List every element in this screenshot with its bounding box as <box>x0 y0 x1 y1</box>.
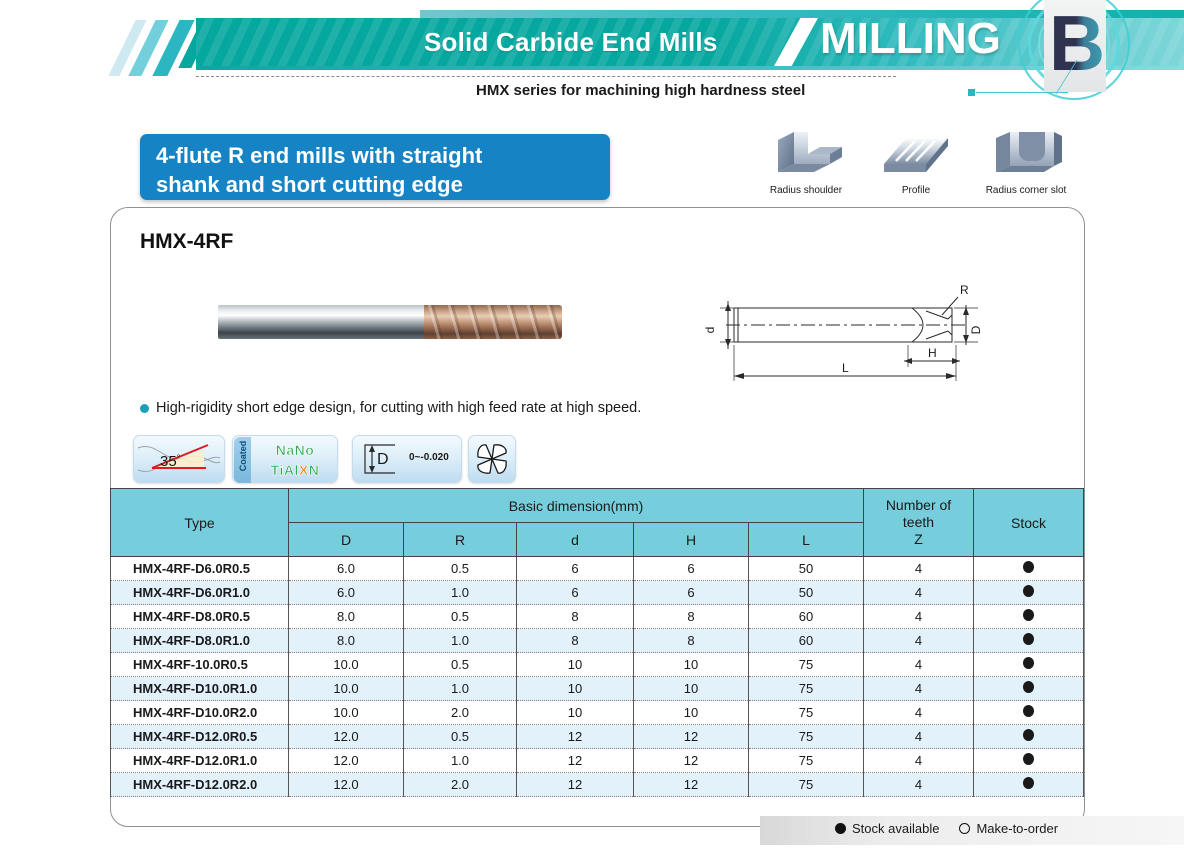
cell-teeth: 4 <box>864 557 974 581</box>
product-code: HMX-4RF <box>140 230 233 254</box>
spec-diameter-tolerance: D 0~-0.020 <box>352 435 462 483</box>
cell-L: 75 <box>749 725 864 749</box>
technical-drawing: d D R H L <box>690 275 990 390</box>
stock-legend: Stock availableMake-to-order <box>835 821 1058 836</box>
stock-available-icon <box>1023 729 1034 741</box>
cell-teeth: 4 <box>864 749 974 773</box>
spec-helix-angle: 35° <box>133 435 225 483</box>
application-icons: Radius shoulder Profile <box>745 130 1085 202</box>
cell-R: 0.5 <box>404 653 517 677</box>
tolerance-value: 0~-0.020 <box>409 452 449 463</box>
product-headline-line2: shank and short cutting edge <box>156 170 610 199</box>
table-row: HMX-4RF-D6.0R0.56.00.566504 <box>111 557 1084 581</box>
cell-stock <box>974 653 1084 677</box>
tool-photo <box>218 303 562 341</box>
radius-corner-slot-icon <box>988 130 1064 178</box>
table-row: HMX-4RF-D12.0R0.512.00.51212754 <box>111 725 1084 749</box>
dim-label-L: L <box>842 361 849 375</box>
cell-d: 10 <box>517 677 634 701</box>
cell-type: HMX-4RF-D12.0R1.0 <box>111 749 289 773</box>
cell-H: 10 <box>634 653 749 677</box>
cell-D: 6.0 <box>289 557 404 581</box>
cell-D: 8.0 <box>289 629 404 653</box>
product-headline-line1: 4-flute R end mills with straight <box>156 141 610 170</box>
helix-angle-value: 35 <box>160 453 177 470</box>
cell-d: 6 <box>517 581 634 605</box>
application-radius-shoulder: Radius shoulder <box>751 130 861 196</box>
tolerance-symbol: D <box>377 451 389 468</box>
subtitle-marker <box>968 89 975 96</box>
cell-stock <box>974 677 1084 701</box>
cell-teeth: 4 <box>864 773 974 797</box>
cell-H: 8 <box>634 605 749 629</box>
cell-type: HMX-4RF-D8.0R0.5 <box>111 605 289 629</box>
cell-R: 0.5 <box>404 557 517 581</box>
cell-H: 6 <box>634 557 749 581</box>
cell-L: 50 <box>749 581 864 605</box>
cell-d: 12 <box>517 773 634 797</box>
col-header-teeth: Number of teeth Z <box>864 489 974 557</box>
cell-L: 75 <box>749 677 864 701</box>
spec-coating: Coated NaNo TiAlXN <box>232 435 338 483</box>
application-profile: Profile <box>861 130 971 196</box>
cell-teeth: 4 <box>864 629 974 653</box>
stock-available-icon <box>1023 657 1034 669</box>
cell-R: 0.5 <box>404 605 517 629</box>
dim-label-d: d <box>703 327 717 334</box>
col-header-R: R <box>404 523 517 557</box>
table-header: Type Basic dimension(mm) Number of teeth… <box>111 489 1084 557</box>
cell-R: 2.0 <box>404 701 517 725</box>
stock-available-icon <box>1023 561 1034 573</box>
dim-label-R: R <box>960 283 969 297</box>
table-row: HMX-4RF-D10.0R2.010.02.01010754 <box>111 701 1084 725</box>
cell-d: 6 <box>517 557 634 581</box>
dim-label-D: D <box>969 325 983 334</box>
cell-D: 12.0 <box>289 749 404 773</box>
col-header-d: d <box>517 523 634 557</box>
cell-H: 12 <box>634 773 749 797</box>
cell-teeth: 4 <box>864 581 974 605</box>
table-row: HMX-4RF-D12.0R1.012.01.01212754 <box>111 749 1084 773</box>
coating-line-2: TiAlXN <box>253 460 337 480</box>
application-label: Radius corner slot <box>971 185 1081 196</box>
cell-D: 10.0 <box>289 701 404 725</box>
cell-R: 1.0 <box>404 629 517 653</box>
col-header-type: Type <box>111 489 289 557</box>
cell-R: 0.5 <box>404 725 517 749</box>
cell-teeth: 4 <box>864 677 974 701</box>
cell-type: HMX-4RF-D8.0R1.0 <box>111 629 289 653</box>
col-header-stock: Stock <box>974 489 1084 557</box>
cell-type: HMX-4RF-D10.0R1.0 <box>111 677 289 701</box>
cell-stock <box>974 701 1084 725</box>
stock-available-icon <box>1023 633 1034 645</box>
cell-L: 75 <box>749 749 864 773</box>
cell-type: HMX-4RF-10.0R0.5 <box>111 653 289 677</box>
cell-R: 2.0 <box>404 773 517 797</box>
cell-H: 12 <box>634 749 749 773</box>
application-radius-corner-slot: Radius corner slot <box>971 130 1081 196</box>
cell-H: 10 <box>634 677 749 701</box>
cell-d: 8 <box>517 605 634 629</box>
cell-R: 1.0 <box>404 581 517 605</box>
cell-d: 12 <box>517 749 634 773</box>
application-label: Radius shoulder <box>751 185 861 196</box>
table-row: HMX-4RF-D12.0R2.012.02.01212754 <box>111 773 1084 797</box>
cell-L: 60 <box>749 629 864 653</box>
cell-d: 10 <box>517 653 634 677</box>
dim-label-H: H <box>928 346 937 360</box>
category-label: MILLING <box>820 14 1001 64</box>
cell-d: 8 <box>517 629 634 653</box>
cell-d: 12 <box>517 725 634 749</box>
cell-type: HMX-4RF-D6.0R0.5 <box>111 557 289 581</box>
cell-stock <box>974 725 1084 749</box>
bullet-dot-icon <box>140 404 149 413</box>
stock-available-icon <box>1023 681 1034 693</box>
table-row: HMX-4RF-D10.0R1.010.01.01010754 <box>111 677 1084 701</box>
profile-icon <box>878 130 954 178</box>
cell-D: 10.0 <box>289 677 404 701</box>
cell-L: 75 <box>749 701 864 725</box>
cell-type: HMX-4RF-D12.0R0.5 <box>111 725 289 749</box>
cell-teeth: 4 <box>864 701 974 725</box>
cell-teeth: 4 <box>864 653 974 677</box>
cell-R: 1.0 <box>404 749 517 773</box>
stock-available-icon <box>1023 609 1034 621</box>
cell-stock <box>974 605 1084 629</box>
cell-H: 8 <box>634 629 749 653</box>
cell-stock <box>974 557 1084 581</box>
cell-H: 12 <box>634 725 749 749</box>
table-row: HMX-4RF-D8.0R1.08.01.088604 <box>111 629 1084 653</box>
radius-shoulder-icon <box>768 130 844 178</box>
col-header-L: L <box>749 523 864 557</box>
cell-L: 60 <box>749 605 864 629</box>
cell-R: 1.0 <box>404 677 517 701</box>
tool-shank <box>218 305 426 339</box>
cell-L: 75 <box>749 653 864 677</box>
cell-type: HMX-4RF-D10.0R2.0 <box>111 701 289 725</box>
legend-make-to-order: Make-to-order <box>976 821 1058 836</box>
coating-name: NaNo TiAlXN <box>253 440 337 480</box>
page-title: Solid Carbide End Mills <box>424 27 718 58</box>
feature-bullet: High-rigidity short edge design, for cut… <box>140 400 641 416</box>
col-header-D: D <box>289 523 404 557</box>
cell-type: HMX-4RF-D6.0R1.0 <box>111 581 289 605</box>
coating-line-1: NaNo <box>253 440 337 460</box>
legend-stock-available: Stock available <box>852 821 939 836</box>
cell-L: 50 <box>749 557 864 581</box>
col-header-basic-dimension: Basic dimension(mm) <box>289 489 864 523</box>
cell-stock <box>974 629 1084 653</box>
cell-stock <box>974 773 1084 797</box>
stock-available-icon <box>1023 585 1034 597</box>
table-row: HMX-4RF-10.0R0.510.00.51010754 <box>111 653 1084 677</box>
cell-H: 10 <box>634 701 749 725</box>
cell-d: 10 <box>517 701 634 725</box>
cell-D: 12.0 <box>289 773 404 797</box>
cell-D: 8.0 <box>289 605 404 629</box>
table-row: HMX-4RF-D8.0R0.58.00.588604 <box>111 605 1084 629</box>
stock-available-icon <box>1023 753 1034 765</box>
tool-cutting-edge <box>424 305 562 339</box>
application-label: Profile <box>861 185 971 196</box>
cell-type: HMX-4RF-D12.0R2.0 <box>111 773 289 797</box>
cell-stock <box>974 581 1084 605</box>
table-row: HMX-4RF-D6.0R1.06.01.066504 <box>111 581 1084 605</box>
col-header-H: H <box>634 523 749 557</box>
cell-teeth: 4 <box>864 725 974 749</box>
cell-stock <box>974 749 1084 773</box>
specification-table: Type Basic dimension(mm) Number of teeth… <box>110 488 1084 797</box>
stock-available-icon <box>1023 705 1034 717</box>
product-headline-box: 4-flute R end mills with straight shank … <box>140 134 610 200</box>
cell-teeth: 4 <box>864 605 974 629</box>
cell-H: 6 <box>634 581 749 605</box>
subtitle-leader-line <box>976 92 1068 93</box>
page-header: Solid Carbide End Mills MILLING B HMX se… <box>0 0 1184 110</box>
cell-L: 75 <box>749 773 864 797</box>
coated-label: Coated <box>238 433 248 479</box>
cell-D: 10.0 <box>289 653 404 677</box>
page-subtitle: HMX series for machining high hardness s… <box>476 82 805 99</box>
legend-filled-circle-icon <box>835 823 846 834</box>
cell-D: 12.0 <box>289 725 404 749</box>
stock-available-icon <box>1023 777 1034 789</box>
table-body: HMX-4RF-D6.0R0.56.00.566504HMX-4RF-D6.0R… <box>111 557 1084 797</box>
four-flute-end-view-icon <box>469 436 515 482</box>
feature-text: High-rigidity short edge design, for cut… <box>156 400 641 416</box>
header-dashed-rule <box>196 76 896 77</box>
cell-D: 6.0 <box>289 581 404 605</box>
diameter-tolerance-icon: D <box>353 436 405 482</box>
legend-open-circle-icon <box>959 823 970 834</box>
helix-angle-icon: 35° <box>134 436 224 482</box>
spec-four-flute <box>468 435 516 483</box>
